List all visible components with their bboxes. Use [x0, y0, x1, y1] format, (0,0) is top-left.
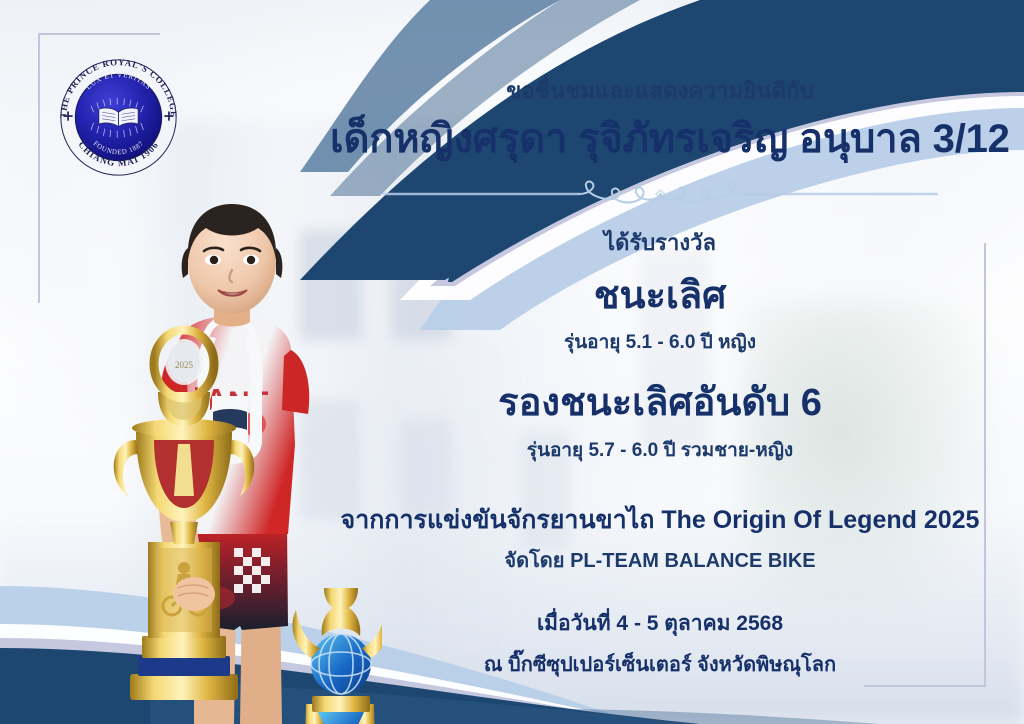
event-date: เมื่อวันที่ 4 - 5 ตุลาคม 2568: [330, 607, 990, 640]
student-name: เด็กหญิงศรุดา รุจิภัทรเจริญ อนุบาล 3/12: [330, 116, 990, 163]
prince-royals-college-seal-icon: THE PRINCE ROYAL'S COLLEGE CHIANG MAI 19…: [53, 52, 184, 183]
event-venue: ณ บิ๊กซีซุปเปอร์เซ็นเตอร์ จังหวัดพิษณุโล…: [330, 648, 990, 680]
svg-text:2025: 2025: [175, 360, 194, 370]
frame-left-line: [38, 33, 40, 303]
certificate-canvas: THE PRINCE ROYAL'S COLLEGE CHIANG MAI 19…: [0, 0, 1024, 724]
event-name: จากการแข่งขันจักรยานขาไถ The Origin Of L…: [330, 505, 990, 535]
award-category-1: รุ่นอายุ 5.1 - 6.0 ปี หญิง: [330, 327, 990, 357]
flourish-divider-icon: [383, 178, 938, 210]
frame-bottom-line: [864, 685, 986, 687]
event-organizer: จัดโดย PL-TEAM BALANCE BIKE: [330, 544, 990, 576]
award-category-2: รุ่นอายุ 5.7 - 6.0 ปี รวมชาย-หญิง: [330, 435, 990, 465]
frame-top-line: [38, 33, 160, 35]
certificate-text-block: ขอชื่นชมและแสดงความยินดีกับ เด็กหญิงศรุด…: [330, 78, 990, 680]
received-award-label: ได้รับรางวัล: [330, 225, 990, 260]
congratulation-line: ขอชื่นชมและแสดงความยินดีกับ: [330, 78, 990, 104]
award-title-2: รองชนะเลิศอันดับ 6: [330, 383, 990, 425]
award-title-1: ชนะเลิศ: [330, 276, 990, 318]
